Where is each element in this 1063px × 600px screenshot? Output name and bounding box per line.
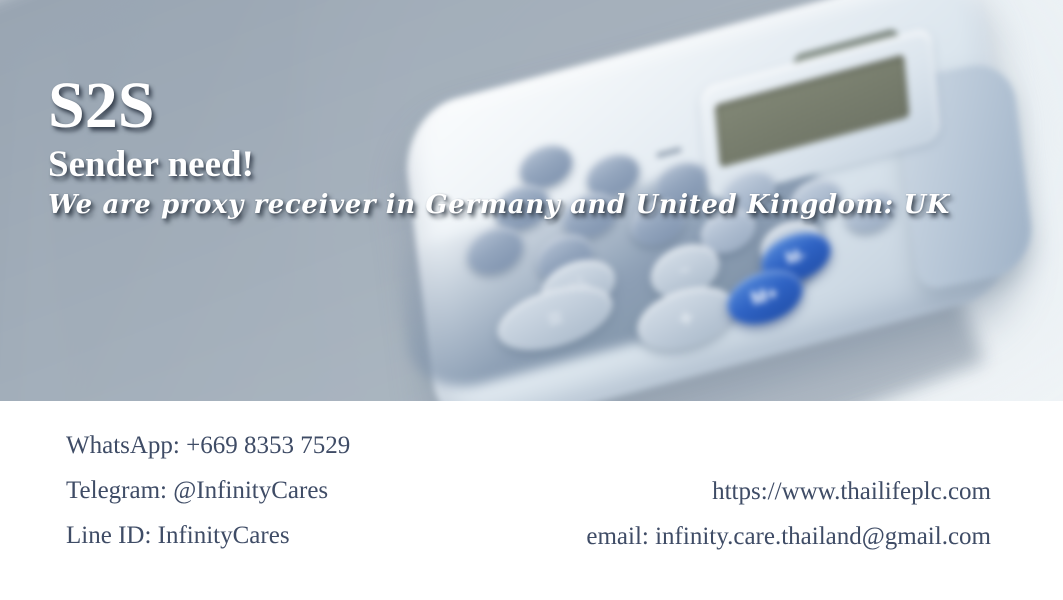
business-card-banner: ÷ − +/- + = M- M+ S2S Sen: [0, 0, 1063, 600]
hero-photo-banner: ÷ − +/- + = M- M+ S2S Sen: [0, 0, 1063, 401]
contact-email[interactable]: email: infinity.care.thailand@gmail.com: [430, 514, 991, 559]
contact-column-right: https://www.thailifeplc.com email: infin…: [430, 469, 991, 559]
contact-whatsapp[interactable]: WhatsApp: +669 8353 7529: [66, 423, 536, 468]
contact-website-url[interactable]: https://www.thailifeplc.com: [430, 469, 991, 514]
page-tagline: We are proxy receiver in Germany and Uni…: [48, 190, 1048, 221]
contact-footer: WhatsApp: +669 8353 7529 Telegram: @Infi…: [0, 401, 1063, 600]
headline-block: S2S Sender need! We are proxy receiver i…: [48, 72, 1048, 221]
page-subtitle: Sender need!: [48, 145, 1048, 186]
page-title: S2S: [48, 72, 1048, 139]
